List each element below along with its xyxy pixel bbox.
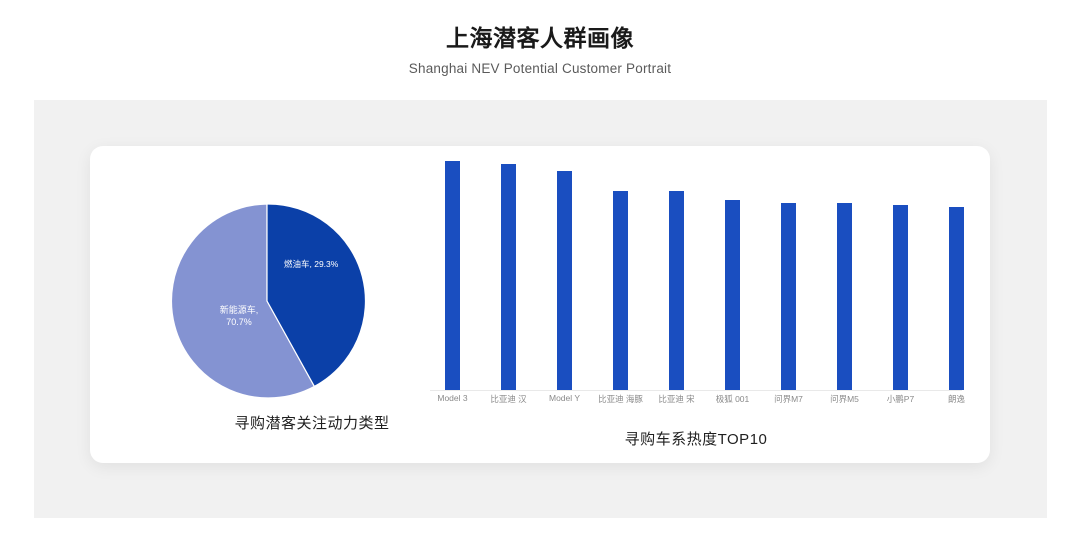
page-title: 上海潜客人群画像 xyxy=(0,0,1080,53)
bar-tick-label: 朗逸 xyxy=(929,393,985,405)
pie-chart-block: 燃油车, 29.3% 新能源车, 70.7% 寻购潜客关注动力类型 xyxy=(162,150,462,450)
bar-tick-label: Model Y xyxy=(537,393,593,403)
bar-chart-caption: 寻购车系热度TOP10 xyxy=(430,428,962,449)
pie-chart-caption: 寻购潜客关注动力类型 xyxy=(162,412,462,433)
bar-tick-label: 比亚迪 海豚 xyxy=(593,393,649,405)
bar-chart-axis-line xyxy=(430,390,962,391)
bar-column[interactable] xyxy=(613,191,628,390)
charts-card: 燃油车, 29.3% 新能源车, 70.7% 寻购潜客关注动力类型 Model … xyxy=(90,146,990,463)
bar-chart-tick-labels: Model 3比亚迪 汉Model Y比亚迪 海豚比亚迪 宋极狐 001问界M7… xyxy=(430,393,962,411)
bar-column[interactable] xyxy=(669,191,684,390)
bar-tick-label: 比亚迪 宋 xyxy=(649,393,705,405)
bar-chart-block: Model 3比亚迪 汉Model Y比亚迪 海豚比亚迪 宋极狐 001问界M7… xyxy=(430,150,975,450)
bar-column[interactable] xyxy=(501,164,516,390)
bar-column[interactable] xyxy=(949,207,964,390)
bar-column[interactable] xyxy=(445,161,460,390)
top10-bar-chart xyxy=(430,150,975,396)
bar-tick-label: 极狐 001 xyxy=(705,393,761,405)
page-header: 上海潜客人群画像 Shanghai NEV Potential Customer… xyxy=(0,0,1080,76)
bar-tick-label: Model 3 xyxy=(425,393,481,403)
bar-column[interactable] xyxy=(781,203,796,390)
bar-column[interactable] xyxy=(893,205,908,390)
bar-tick-label: 小鹏P7 xyxy=(873,393,929,405)
bar-column[interactable] xyxy=(837,203,852,390)
bar-tick-label: 问界M7 xyxy=(761,393,817,405)
bar-tick-label: 比亚迪 汉 xyxy=(481,393,537,405)
page-subtitle: Shanghai NEV Potential Customer Portrait xyxy=(0,53,1080,76)
bar-tick-label: 问界M5 xyxy=(817,393,873,405)
powertrain-pie-chart xyxy=(162,196,372,406)
bar-column[interactable] xyxy=(725,200,740,390)
bar-column[interactable] xyxy=(557,171,572,390)
